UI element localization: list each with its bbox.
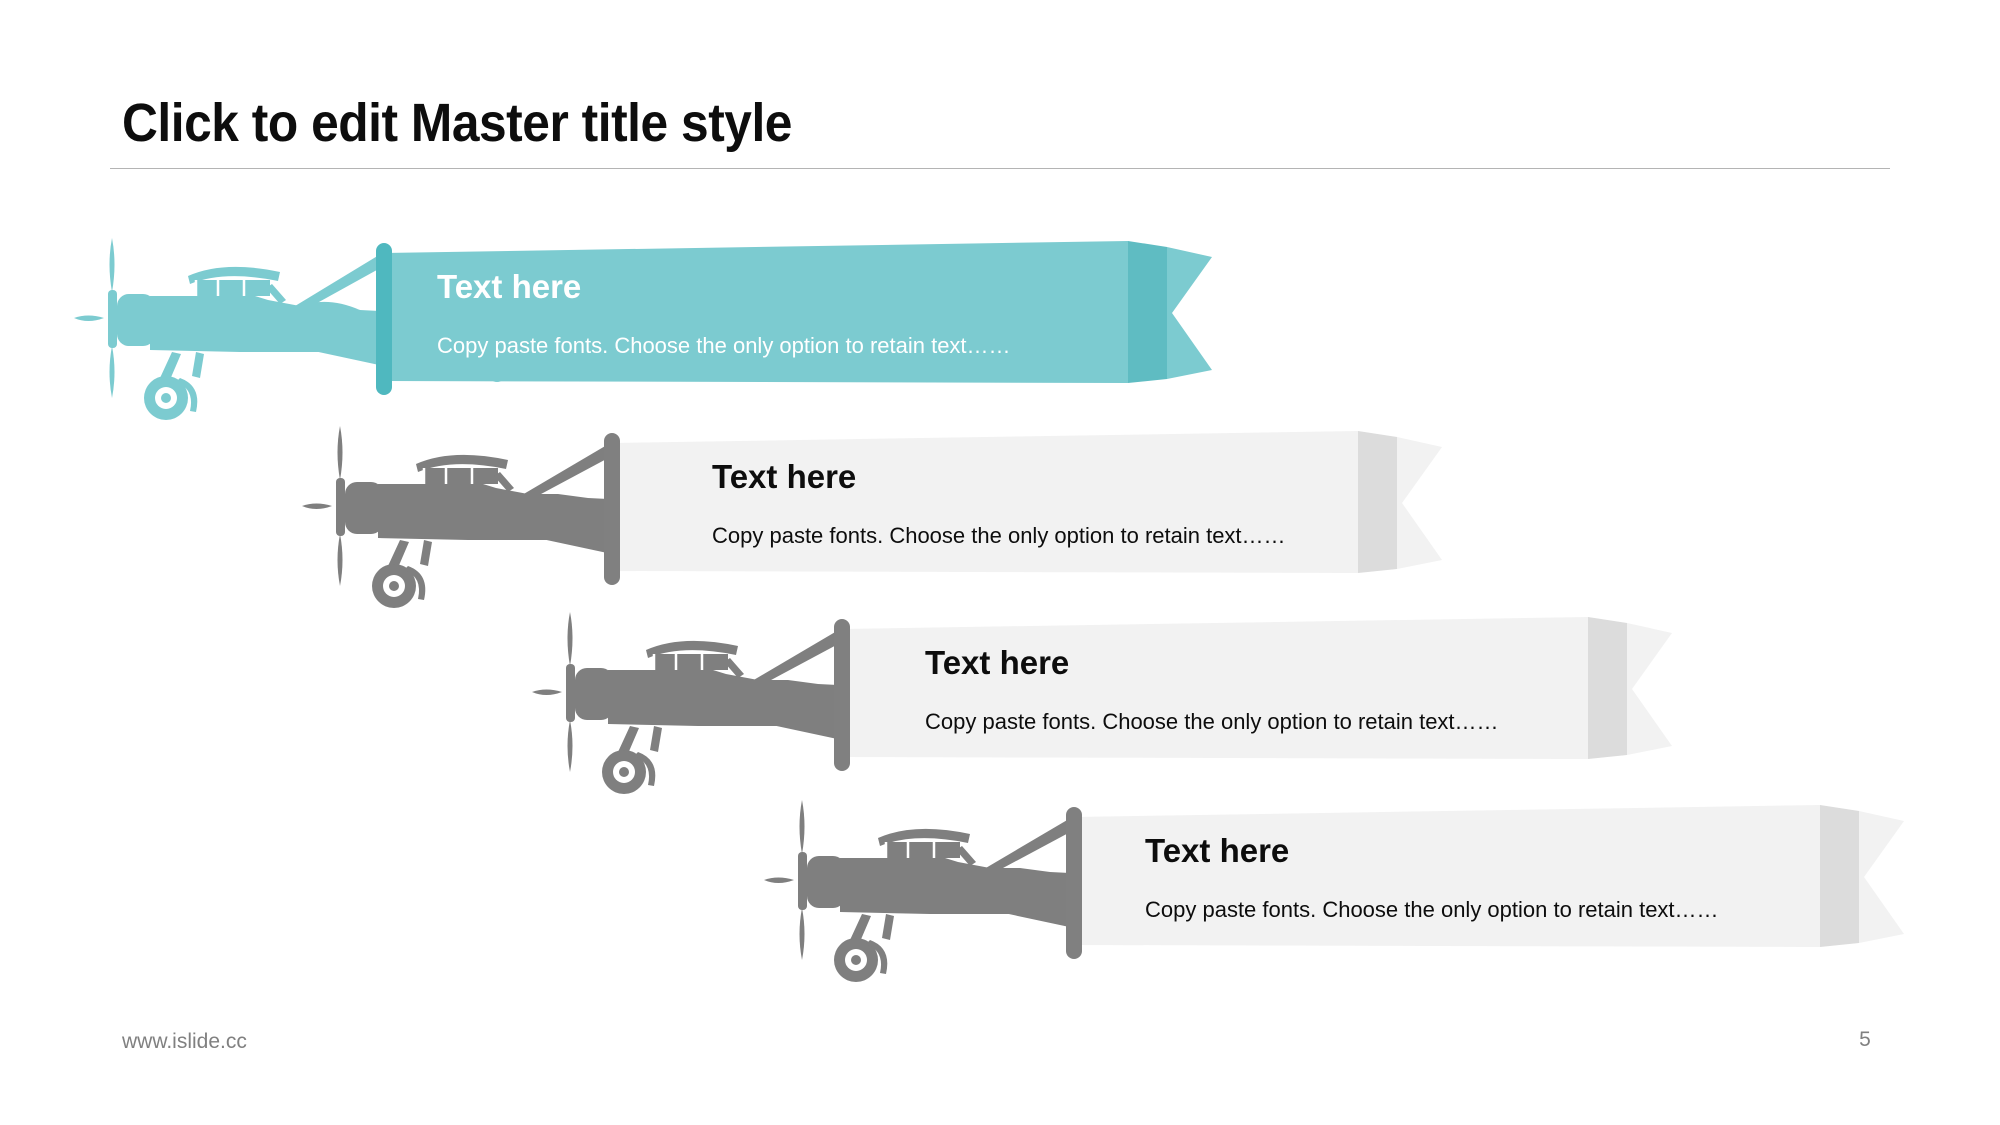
banner-4-pole xyxy=(1066,807,1082,959)
banner-4-graphic xyxy=(0,0,2000,1125)
banner-4-fold xyxy=(1820,805,1859,947)
banner-row-4: Text here Copy paste fonts. Choose the o… xyxy=(0,0,2000,1125)
page-number: 5 xyxy=(1845,1028,1885,1052)
banner-4-band xyxy=(1074,805,1820,947)
banner-4-title[interactable]: Text here xyxy=(1145,832,1289,870)
banner-4-tail xyxy=(1859,811,1904,943)
footer-url[interactable]: www.islide.cc xyxy=(122,1030,247,1054)
slide-canvas: Click to edit Master title style xyxy=(0,0,2000,1125)
banner-4-body[interactable]: Copy paste fonts. Choose the only option… xyxy=(1145,897,1719,923)
